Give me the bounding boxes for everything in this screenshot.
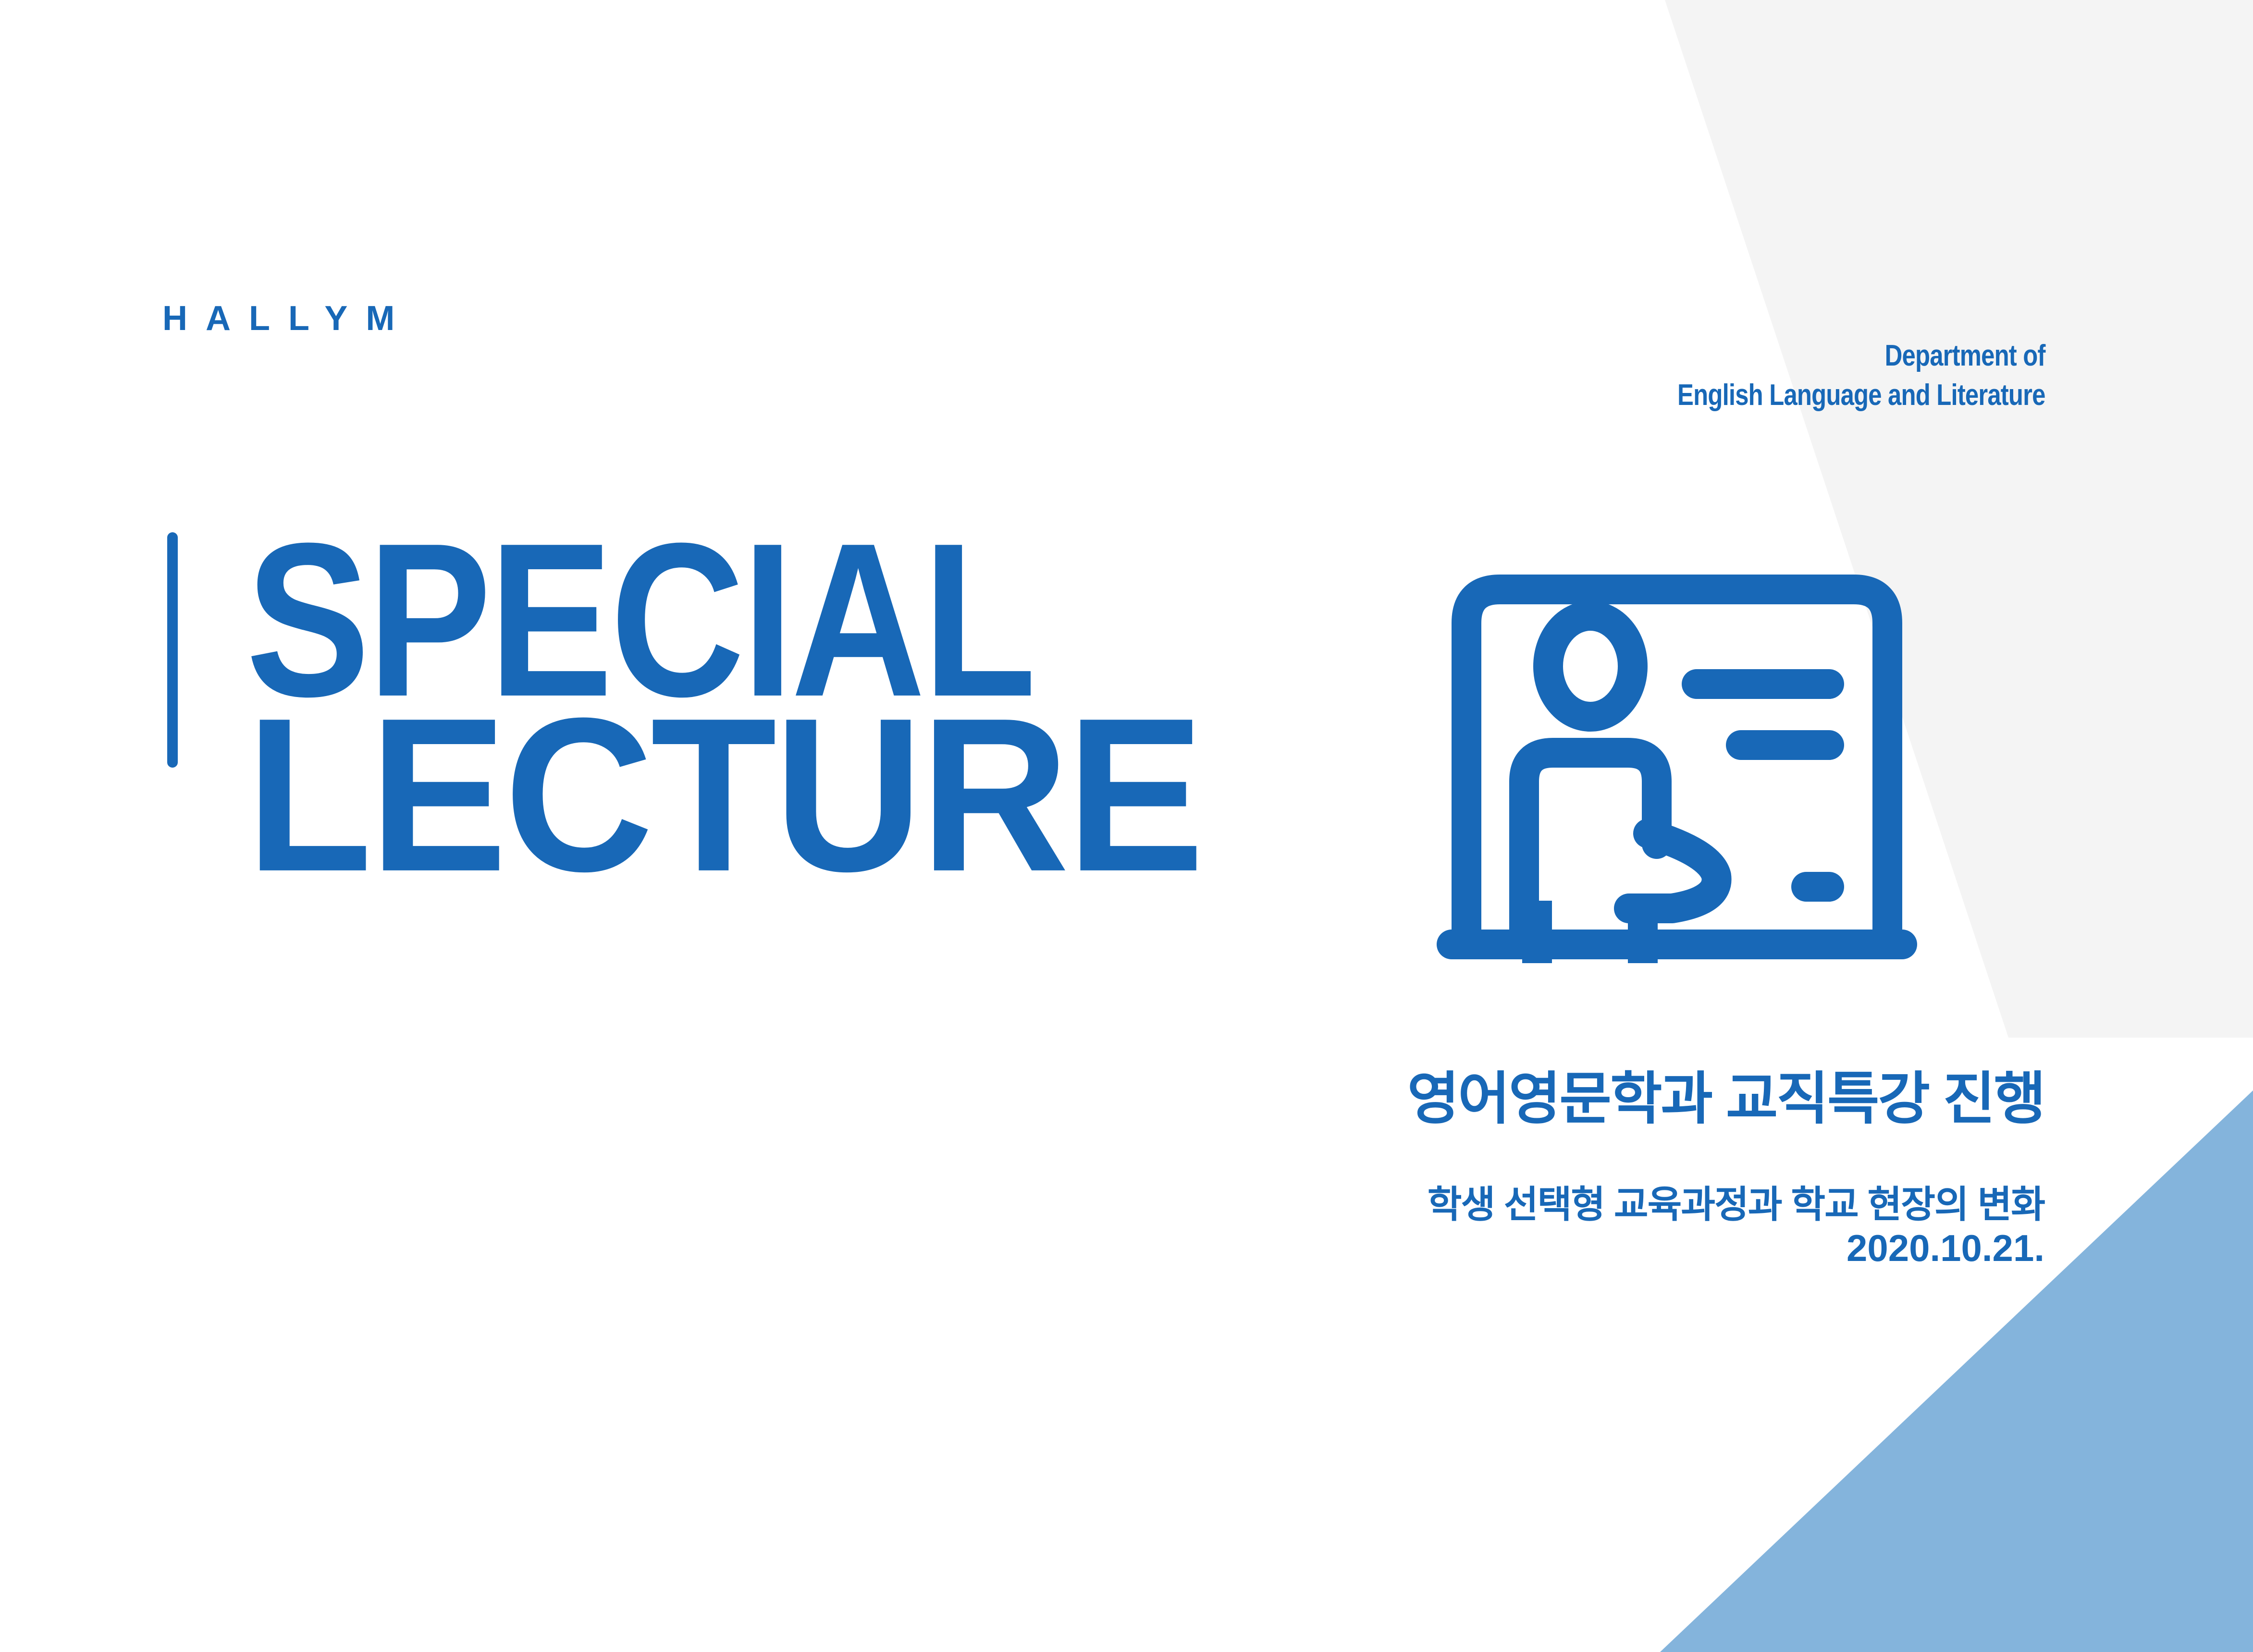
title-line-lecture: LECTURE — [246, 694, 1202, 897]
board-base-bar — [1437, 930, 1917, 959]
board-text-line-2 — [1726, 730, 1844, 760]
hallym-wordmark: HALLYM — [162, 301, 413, 336]
title-lines: SPECIAL LECTURE — [246, 519, 1202, 886]
presenter-leg-left — [1522, 901, 1552, 963]
board-text-line-3 — [1791, 872, 1844, 902]
department-line-1: Department of — [1677, 336, 2045, 376]
korean-heading: 영어영문학과 교직특강 진행 — [1407, 1069, 2044, 1130]
presenter-leg-right — [1628, 901, 1658, 963]
korean-date: 2020.10.21. — [1407, 1226, 2044, 1270]
korean-subtitle: 학생 선택형 교육과정과 학교 현장의 변화 — [1407, 1183, 2044, 1226]
presenter-head — [1548, 616, 1633, 717]
korean-text-block: 영어영문학과 교직특강 진행 학생 선택형 교육과정과 학교 현장의 변화 20… — [1407, 1069, 2044, 1270]
board-text-line-1 — [1682, 669, 1844, 699]
poster-canvas: HALLYM Department of English Language an… — [0, 0, 2253, 1652]
department-block: Department of English Language and Liter… — [1677, 336, 2045, 415]
title-accent-bar — [167, 532, 178, 768]
presenter-arm — [1629, 833, 1717, 908]
department-line-2: English Language and Literature — [1677, 376, 2045, 415]
lecturer-whiteboard-icon — [1422, 564, 1932, 963]
